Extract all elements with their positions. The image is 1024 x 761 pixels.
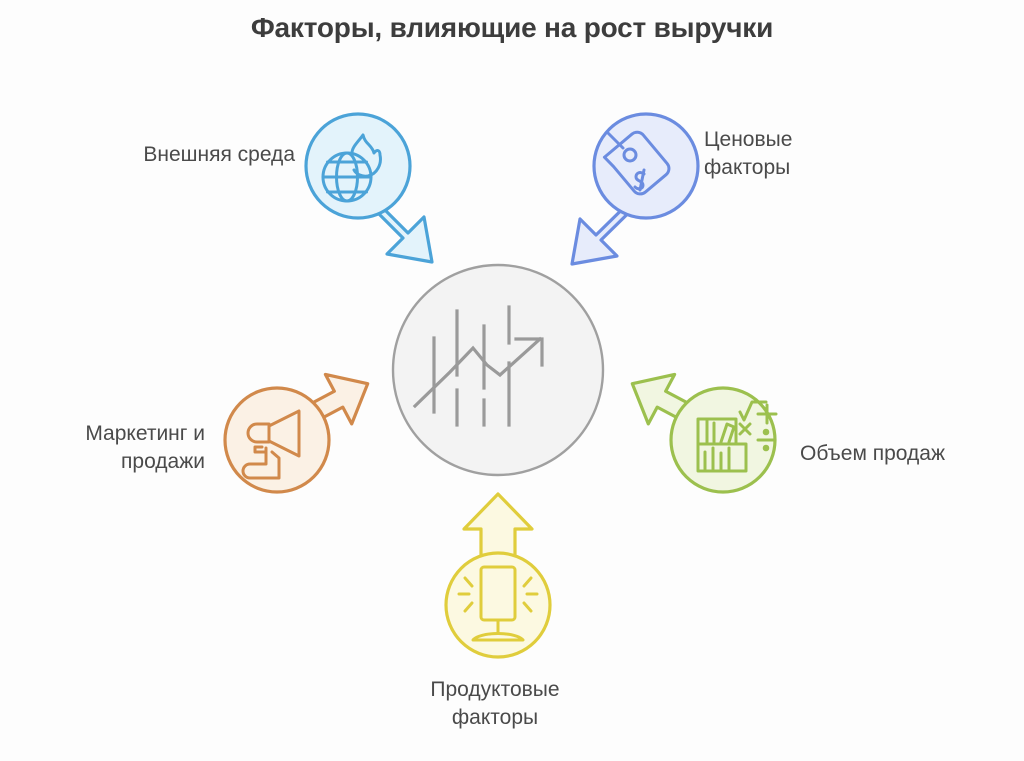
- node-product[interactable]: [446, 494, 550, 657]
- node-pricing-circle[interactable]: [594, 114, 698, 218]
- node-label-product: Продуктовые факторы: [370, 676, 620, 732]
- node-label-external: Внешняя среда: [45, 141, 295, 169]
- center-node[interactable]: [393, 265, 603, 475]
- node-label-marketing: Маркетинг и продажи: [5, 420, 205, 476]
- node-label-sales-volume: Объем продаж: [800, 440, 1024, 468]
- center-circle[interactable]: [393, 265, 603, 475]
- node-label-pricing: Ценовые факторы: [704, 126, 934, 182]
- node-marketing-circle[interactable]: [225, 388, 329, 492]
- node-pricing[interactable]: [572, 114, 698, 264]
- diagram-canvas: Факторы, влияющие на рост выручки: [0, 0, 1024, 761]
- node-external-circle[interactable]: [306, 114, 410, 218]
- node-marketing[interactable]: [225, 359, 381, 492]
- diagram-graphics: [0, 0, 1024, 761]
- node-sales-volume[interactable]: [619, 359, 776, 492]
- node-external[interactable]: [306, 114, 432, 262]
